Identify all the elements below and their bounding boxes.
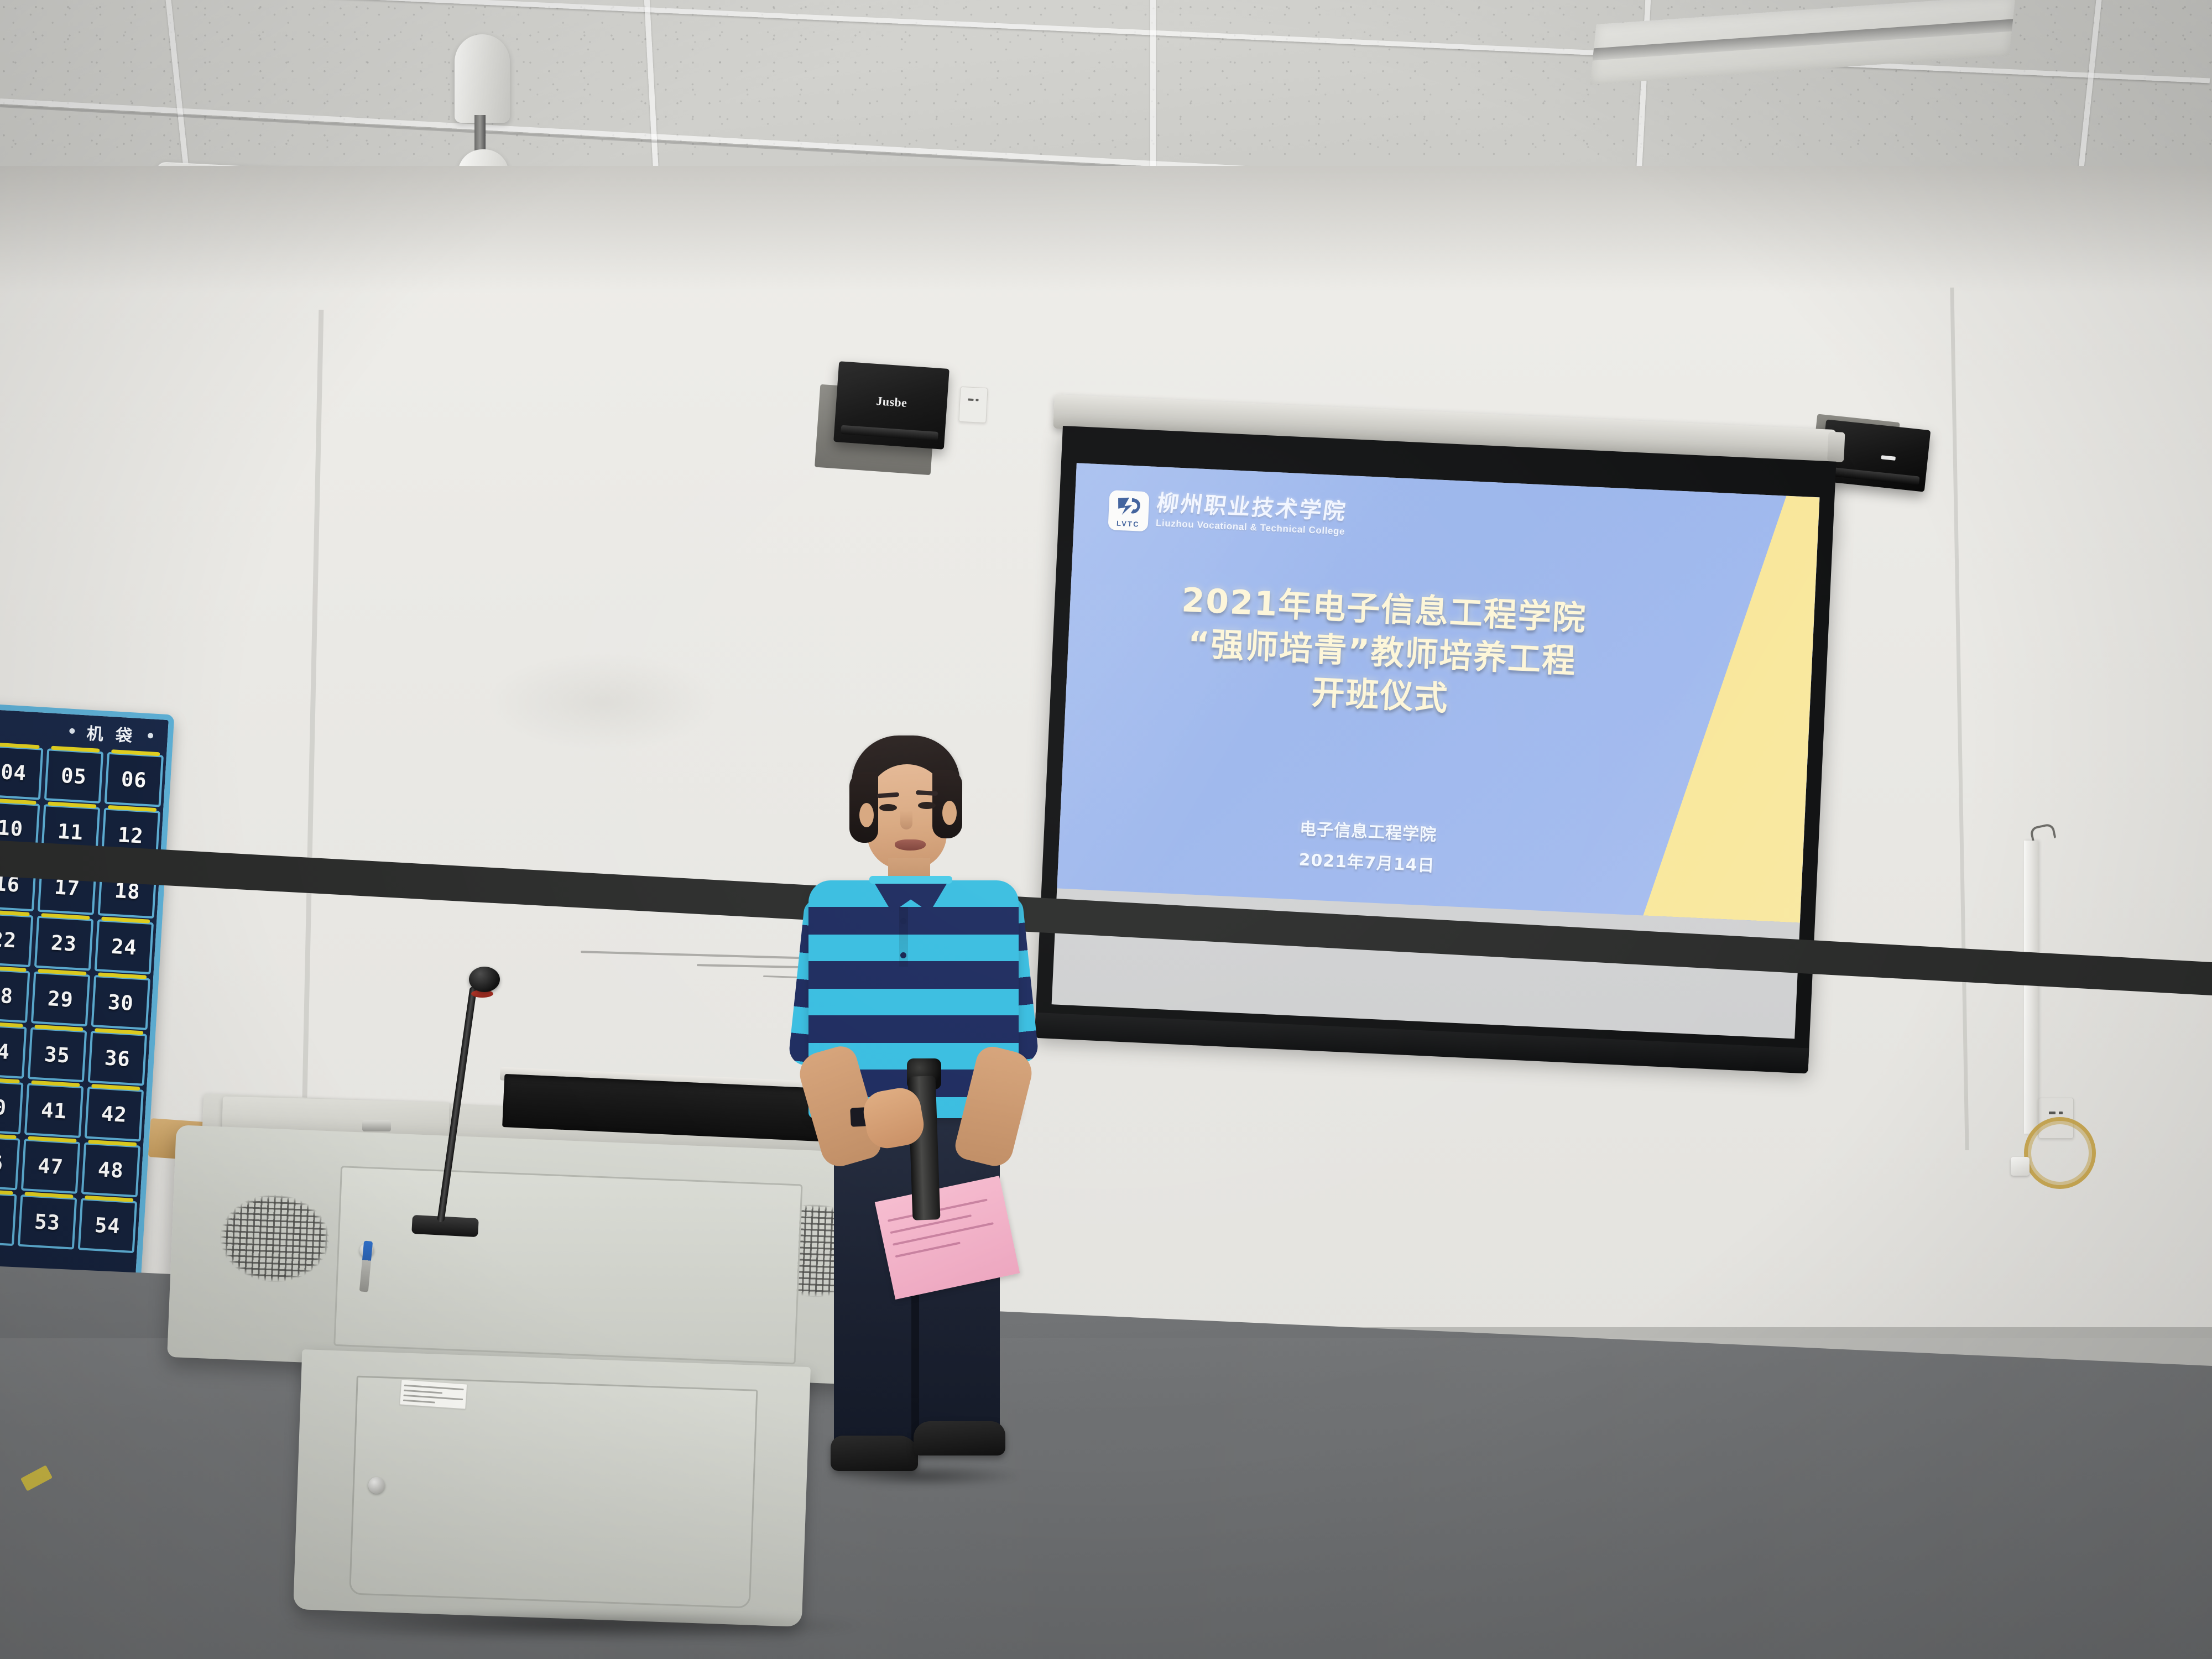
- phone-pocket[interactable]: 40: [0, 1079, 23, 1135]
- presentation-slide: LVTC 柳州职业技术学院 Liuzhou Vocational & Techn…: [1057, 463, 1819, 922]
- speaker-bass-port: [1827, 467, 1919, 485]
- phone-pocket[interactable]: 35: [28, 1027, 87, 1082]
- hanging-power-cable: [2024, 1117, 2096, 1189]
- phone-pocket-number: 04: [0, 760, 27, 785]
- phone-pocket-number: 22: [0, 927, 17, 952]
- left-wall-speaker: Jusbe: [833, 361, 950, 450]
- phone-pocket[interactable]: 42: [85, 1087, 144, 1142]
- presenter-eye: [918, 802, 936, 809]
- phone-pocket-number: 29: [47, 987, 74, 1012]
- lectern-speaker-grille-left: [218, 1192, 332, 1285]
- gooseneck-mic-capsule: [469, 967, 500, 992]
- lectern-cabinet-door[interactable]: [333, 1166, 802, 1364]
- phone-pocket[interactable]: 06: [105, 752, 164, 807]
- phone-pocket-number: 53: [34, 1209, 61, 1235]
- phone-pocket-number: 30: [107, 990, 134, 1015]
- slide-title: 2021年电子信息工程学院 “强师培青”教师培养工程 开班仪式: [1066, 573, 1699, 732]
- phone-pocket-number: 54: [94, 1213, 121, 1238]
- roller-end-cap: [1827, 431, 1845, 462]
- left-speaker-brand-label: Jusbe: [876, 394, 907, 410]
- phone-pocket-number: 52: [0, 1206, 1, 1231]
- phone-pocket[interactable]: 53: [18, 1194, 77, 1250]
- phone-pocket-number: 48: [97, 1157, 124, 1183]
- presenter-shoe: [831, 1436, 918, 1471]
- shirt-button: [900, 952, 906, 958]
- phone-pocket-number: 35: [44, 1042, 71, 1067]
- header-dot-icon: [69, 728, 75, 734]
- phone-pocket-number: 12: [117, 823, 144, 848]
- lectern-panel-latch[interactable]: [362, 1120, 391, 1131]
- phone-pocket[interactable]: 28: [0, 968, 30, 1023]
- wall-smudge: [487, 653, 719, 752]
- pedestal-door[interactable]: [349, 1376, 758, 1609]
- phone-pocket-number: 46: [0, 1150, 4, 1176]
- lvtc-logo-glyph: [1114, 494, 1144, 518]
- presenter-ear: [859, 803, 874, 827]
- phone-pocket-number: 34: [0, 1039, 11, 1064]
- phone-pocket[interactable]: 34: [0, 1024, 27, 1079]
- speaker-bass-port: [841, 425, 938, 441]
- lectern-pedestal: [293, 1349, 811, 1627]
- slide-logo: LVTC 柳州职业技术学院 Liuzhou Vocational & Techn…: [1108, 490, 1347, 541]
- presenter-collar-trim: [869, 876, 952, 884]
- phone-pocket-number: 40: [0, 1094, 7, 1120]
- lvtc-logo-badge: LVTC: [1108, 490, 1149, 531]
- phone-pocket-number: 36: [104, 1046, 131, 1071]
- pocket-board-header-text: 机 袋: [86, 719, 137, 747]
- presenter-eye: [879, 804, 897, 811]
- header-dot-icon: [148, 733, 154, 739]
- phone-pocket-number: 10: [0, 816, 24, 841]
- phone-pocket[interactable]: 22: [0, 912, 33, 967]
- phone-pocket[interactable]: 54: [78, 1198, 137, 1253]
- phone-pocket[interactable]: 41: [24, 1083, 84, 1138]
- projector-screen: LVTC 柳州职业技术学院 Liuzhou Vocational & Techn…: [1035, 426, 1836, 1070]
- phone-pocket[interactable]: 04: [0, 745, 43, 800]
- presenter-ear: [942, 801, 957, 825]
- phone-pocket[interactable]: 05: [44, 748, 103, 804]
- phone-pocket-number: 11: [57, 819, 84, 844]
- phone-pocket[interactable]: 52: [0, 1191, 17, 1246]
- phone-pocket[interactable]: 47: [21, 1139, 80, 1194]
- presenter-mouth: [895, 839, 926, 851]
- presenter-shoe: [914, 1421, 1005, 1455]
- lvtc-logo-text: LVTC: [1108, 519, 1149, 529]
- classroom-photo: Jusbe LVTC 柳: [0, 0, 2212, 1659]
- slide-subtitle: 电子信息工程学院 2021年7月14日: [1058, 803, 1677, 893]
- phone-pocket[interactable]: 23: [34, 916, 93, 971]
- phone-pocket-number: 24: [111, 934, 138, 959]
- phone-pocket-number: 42: [101, 1102, 128, 1127]
- lectern-floor-shadow: [271, 1609, 868, 1642]
- power-plug: [2011, 1157, 2030, 1176]
- phone-pocket[interactable]: 30: [91, 975, 150, 1030]
- phone-pocket[interactable]: 46: [0, 1135, 20, 1191]
- shirt-button: [900, 918, 906, 924]
- fan-canopy: [455, 34, 510, 123]
- wall-cable-conduit: [2024, 841, 2038, 1134]
- phone-pocket-number: 05: [60, 763, 87, 789]
- phone-pocket-number: 28: [0, 983, 14, 1008]
- right-speaker-logo-mark: [1881, 455, 1896, 461]
- phone-pocket[interactable]: 29: [31, 972, 90, 1027]
- presenter: [769, 735, 1056, 1510]
- wall-power-outlet[interactable]: [958, 387, 988, 424]
- phone-pocket-number: 06: [121, 767, 148, 792]
- wall-top-shading: [0, 166, 2212, 293]
- phone-pocket-number: 23: [50, 931, 77, 956]
- asset-tag-label: [399, 1379, 467, 1409]
- phone-pocket[interactable]: 48: [81, 1142, 140, 1197]
- phone-pocket-number: 41: [40, 1098, 67, 1123]
- phone-pocket[interactable]: 24: [95, 919, 154, 974]
- pocket-grid: 0405061011121617182223242829303435364041…: [0, 742, 166, 1258]
- phone-pocket[interactable]: 36: [88, 1031, 147, 1086]
- gooseneck-mic-base: [411, 1215, 479, 1237]
- presenter-nose: [900, 811, 912, 830]
- phone-pocket-number: 47: [37, 1154, 64, 1179]
